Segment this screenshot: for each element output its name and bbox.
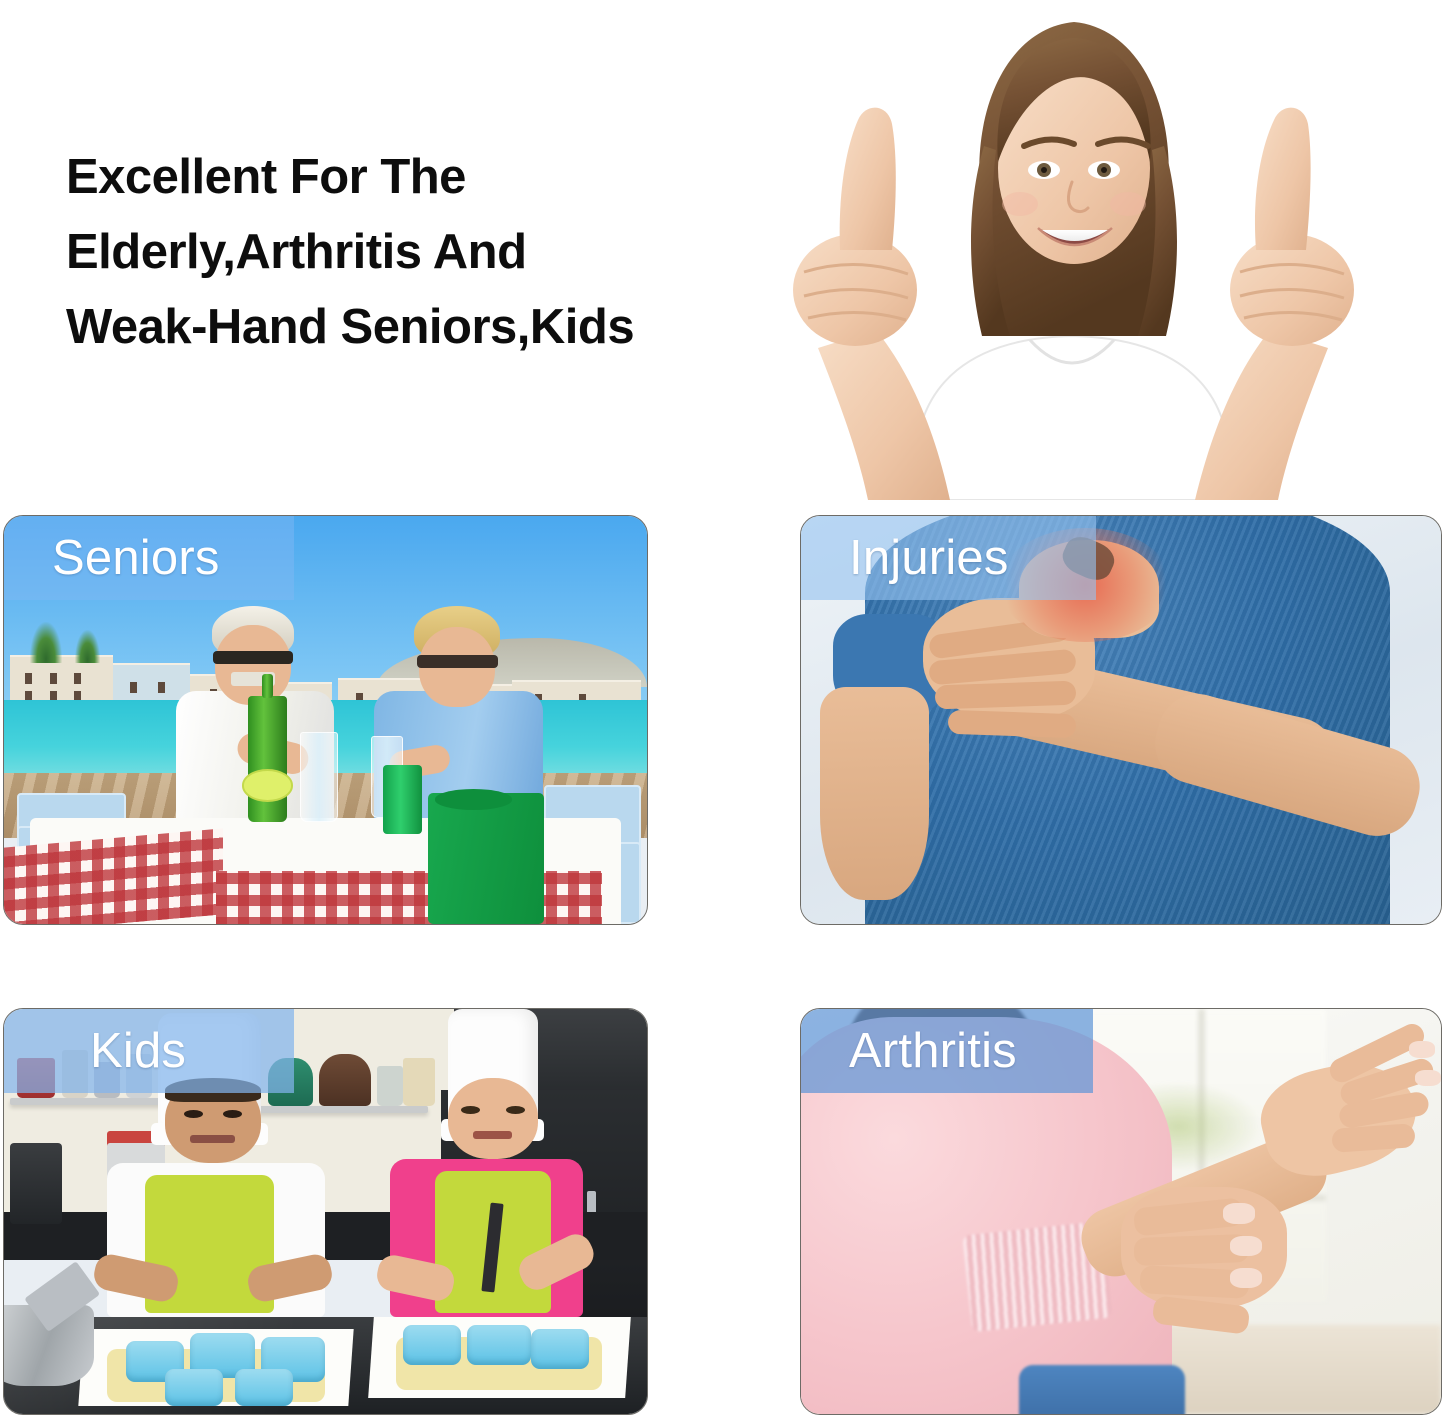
product-feature-graphic: Excellent For The Elderly,Arthritis And …	[0, 0, 1445, 1417]
panel-injuries[interactable]: Injuries	[800, 515, 1442, 925]
hero-image-girl-thumbs-up	[700, 0, 1445, 500]
panel-kids[interactable]: Kids	[3, 1008, 648, 1415]
page-title: Excellent For The Elderly,Arthritis And …	[66, 140, 796, 365]
kids-photo	[4, 1009, 647, 1414]
panel-seniors[interactable]: Seniors	[3, 515, 648, 925]
injuries-photo	[801, 516, 1441, 924]
girl-thumbs-up-illustration	[700, 0, 1445, 500]
arthritis-photo	[801, 1009, 1441, 1414]
panel-arthritis[interactable]: Arthritis	[800, 1008, 1442, 1415]
seniors-photo	[4, 516, 647, 924]
